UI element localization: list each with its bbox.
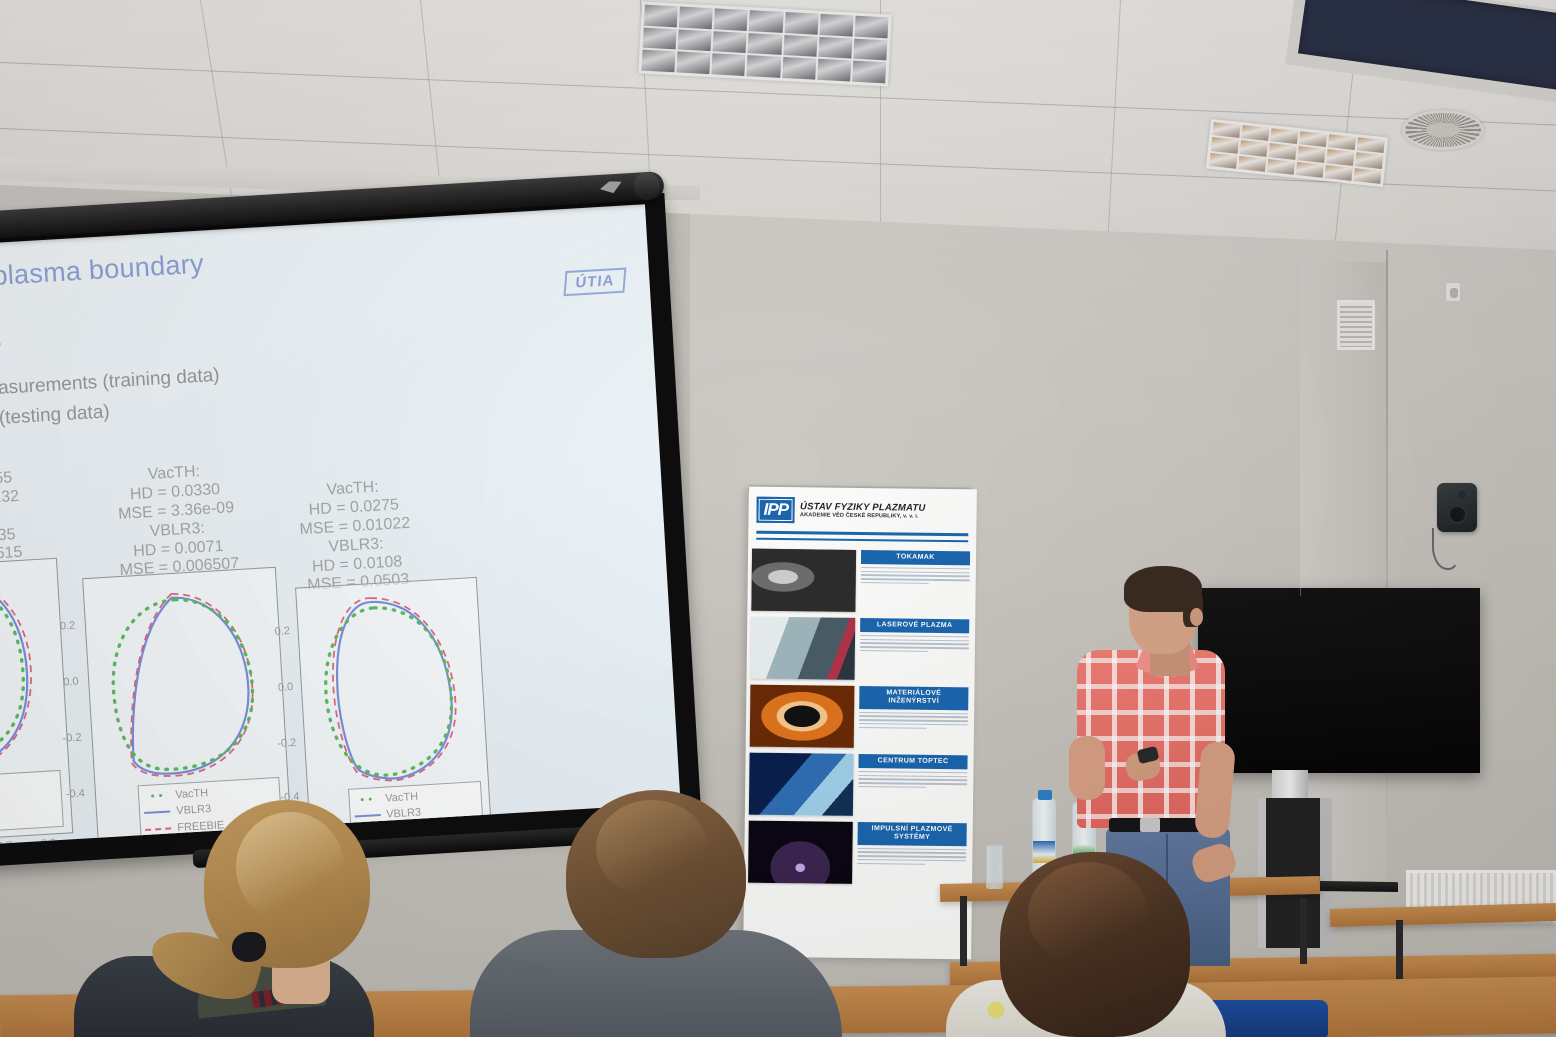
slide-title: for the tokamak plasma boundary — [0, 228, 554, 304]
banner-section: TOKAMAK — [747, 546, 976, 617]
pulsed-plasma-photo — [748, 821, 853, 884]
banner-section: IMPULSNÍ PLAZMOVÉ SYSTÉMY — [744, 818, 973, 889]
display-seam — [1300, 588, 1301, 596]
banner-section-body — [858, 771, 967, 789]
slide-bullet-3: wer error in validations (testing data) — [0, 401, 110, 441]
ipp-logo: IPP — [756, 497, 795, 523]
dotted-marker-icon — [353, 797, 379, 802]
banner-section: LASEROVÉ PLAZMA — [746, 614, 975, 685]
solid-line-icon — [144, 811, 170, 815]
wall-corner-edge — [1386, 250, 1388, 890]
banner-section-title: IMPULSNÍ PLAZMOVÉ SYSTÉMY — [858, 822, 967, 846]
banner-section-text: IMPULSNÍ PLAZMOVÉ SYSTÉMY — [857, 822, 967, 868]
banner-section-text: TOKAMAK — [861, 550, 970, 587]
flat-panel-display[interactable] — [1198, 588, 1480, 773]
banner-section-text: LASEROVÉ PLAZMA — [860, 618, 969, 655]
speaker-cable — [1432, 528, 1460, 570]
boundary-plot-1: VacTH VBLR3 FREEBIE 0.4 0.5 0.6 — [0, 558, 73, 846]
y-tick: 0.2 — [274, 625, 290, 638]
display-stand-cabinet — [1258, 798, 1332, 948]
y-tick: -0.4 — [66, 787, 86, 800]
audience-2-hair-highlight — [596, 800, 708, 896]
banner-section-body — [859, 711, 968, 729]
y-tick: 0.0 — [63, 676, 79, 689]
presentation-slide: for the tokamak plasma boundary ÚTIA s s… — [0, 204, 681, 846]
presenter-arm-left — [1069, 736, 1105, 800]
banner-section-title: LASEROVÉ PLAZMA — [860, 618, 969, 633]
banner-divider — [756, 538, 968, 543]
banner-section-title: TOKAMAK — [861, 550, 970, 565]
desk-leg — [1300, 898, 1307, 964]
banner-sections: TOKAMAK LASEROVÉ PLAZMA MATERIÁLOVÉ INŽE… — [744, 544, 976, 889]
legend-label: VacTH — [175, 785, 209, 803]
solid-line-icon — [354, 814, 380, 818]
roller-end-cap — [633, 171, 661, 200]
slide-bullet-2: gher residue on the measurements (traini… — [0, 365, 220, 412]
presenter-belt-buckle — [1140, 818, 1160, 832]
drinking-glass — [986, 845, 1003, 889]
banner-section-body — [860, 635, 969, 653]
boundary-plot-3: VacTH VBLR3 FREEBIE 0.2 0.0 -0.2 — [295, 577, 493, 846]
banner-section-text: CENTRUM TOPTEC — [858, 754, 967, 791]
dashed-line-icon — [145, 827, 171, 831]
wall-vent-grille — [1337, 300, 1375, 350]
toptec-photo — [749, 753, 854, 816]
ceiling-light-fixture-left — [638, 2, 891, 87]
dotted-marker-icon — [143, 794, 169, 799]
stats-block-1: VacTH: HD = 0.0755 MSE = 0.1232 VBLR3: H… — [0, 450, 23, 569]
slide-bullet-1: s selected by ARD has — [0, 331, 2, 364]
banner-section-body — [861, 567, 970, 585]
plot-1-legend: VacTH VBLR3 FREEBIE — [0, 769, 63, 836]
y-tick: 0.2 — [60, 620, 76, 633]
slide-surface: for the tokamak plasma boundary ÚTIA s s… — [0, 204, 681, 846]
y-tick: -0.2 — [62, 732, 82, 745]
banner-org-line-2: AKADEMIE VĚD ČESKÉ REPUBLIKY, v. v. i. — [800, 512, 925, 520]
wall-speaker-icon — [1437, 483, 1477, 532]
bottle-cap — [1038, 790, 1052, 800]
y-tick: 0.0 — [278, 681, 294, 694]
banner-section-text: MATERIÁLOVÉ INŽENÝRSTVÍ — [859, 686, 969, 732]
wall-sensor — [1445, 282, 1461, 302]
materials-photo — [750, 685, 855, 748]
banner-section: MATERIÁLOVÉ INŽENÝRSTVÍ — [746, 682, 975, 753]
air-diffuser-vent — [1402, 110, 1484, 150]
utia-logo: ÚTIA — [563, 267, 626, 296]
projection-screen[interactable]: for the tokamak plasma boundary ÚTIA s s… — [0, 120, 719, 822]
banner-org-text: ÚSTAV FYZIKY PLAZMATU AKADEMIE VĚD ČESKÉ… — [800, 502, 926, 520]
banner-section-title: CENTRUM TOPTEC — [858, 754, 967, 769]
banner-section-body — [857, 847, 966, 865]
stats-block-2: VacTH: HD = 0.0330 MSE = 3.36e-09 VBLR3:… — [114, 461, 240, 581]
legend-label: VacTH — [385, 788, 419, 806]
tokamak-photo — [751, 549, 856, 612]
audience-1-hair-highlight — [236, 812, 344, 922]
banner-header: IPP ÚSTAV FYZIKY PLAZMATU AKADEMIE VĚD Č… — [748, 487, 976, 530]
banner-section: CENTRUM TOPTEC — [745, 750, 974, 821]
y-tick: -0.2 — [277, 737, 297, 750]
screen-brand-icon — [600, 181, 623, 194]
audience-3-hair-highlight — [1028, 862, 1148, 966]
desk-leg — [960, 896, 967, 966]
banner-divider — [756, 531, 968, 537]
room-scene: for the tokamak plasma boundary ÚTIA s s… — [0, 0, 1556, 1037]
banner-section-title: MATERIÁLOVÉ INŽENÝRSTVÍ — [859, 686, 968, 710]
laser-photo — [751, 617, 856, 680]
audience-1-hair-tie — [232, 932, 266, 962]
presenter-ear — [1190, 608, 1203, 626]
stats-block-3: VacTH: HD = 0.0275 MSE = 0.01022 VBLR3: … — [297, 477, 414, 597]
desk-leg — [1396, 920, 1403, 982]
